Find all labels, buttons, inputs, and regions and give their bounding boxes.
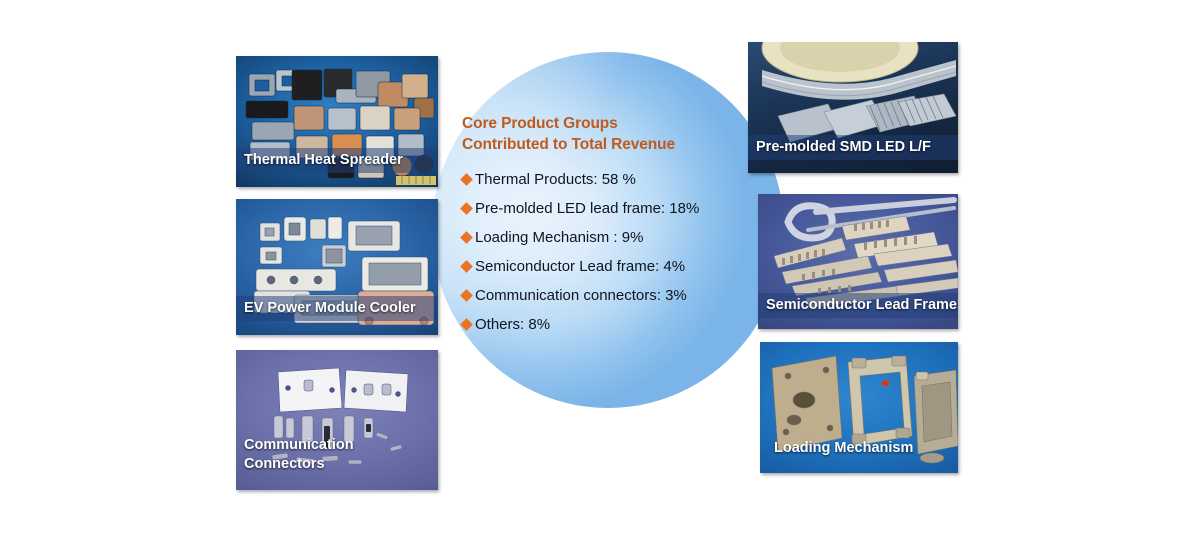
photo-semiconductor-lead-frames[interactable]: Semiconductor Lead Frames	[758, 194, 958, 329]
photo-thermal-heat-spreader[interactable]: Thermal Heat Spreader	[236, 56, 438, 187]
list-item: Loading Mechanism : 9%	[462, 223, 762, 252]
photo-caption: EV Power Module Cooler	[236, 296, 438, 321]
list-item: Others: 8%	[462, 310, 762, 339]
bullet-label: Pre-molded LED lead frame: 18%	[475, 194, 699, 223]
bullet-label: Loading Mechanism : 9%	[475, 223, 643, 252]
photo-ev-power-module-cooler[interactable]: EV Power Module Cooler	[236, 199, 438, 335]
photo-caption: Pre-molded SMD LED L/F	[748, 135, 958, 160]
photo-caption: Loading Mechanism	[766, 436, 958, 461]
photo-caption: Communication Connectors	[236, 433, 438, 478]
list-item: Semiconductor Lead frame: 4%	[462, 252, 762, 281]
diamond-bullet-icon	[460, 231, 473, 244]
bullet-label: Thermal Products: 58 %	[475, 165, 636, 194]
bullet-label: Others: 8%	[475, 310, 550, 339]
photo-caption-line1: Communication	[244, 436, 438, 455]
photo-caption: Semiconductor Lead Frames	[758, 293, 958, 318]
photo-premolded-smd-led-lf[interactable]: Pre-molded SMD LED L/F	[748, 42, 958, 173]
core-product-title-line1: Core Product Groups	[462, 113, 762, 134]
diamond-bullet-icon	[460, 260, 473, 273]
photo-loading-mechanism[interactable]: Loading Mechanism	[760, 342, 958, 473]
list-item: Pre-molded LED lead frame: 18%	[462, 194, 762, 223]
photo-communication-connectors[interactable]: Communication Connectors	[236, 350, 438, 490]
core-product-title-line2: Contributed to Total Revenue	[462, 134, 762, 155]
list-item: Thermal Products: 58 %	[462, 165, 762, 194]
bullet-label: Semiconductor Lead frame: 4%	[475, 252, 685, 281]
list-item: Communication connectors: 3%	[462, 281, 762, 310]
slide-canvas: Core Product Groups Contributed to Total…	[0, 0, 1198, 538]
core-product-text-block: Core Product Groups Contributed to Total…	[462, 113, 762, 339]
photo-caption-line2: Connectors	[244, 455, 438, 474]
diamond-bullet-icon	[460, 173, 473, 186]
diamond-bullet-icon	[460, 289, 473, 302]
diamond-bullet-icon	[460, 318, 473, 331]
photo-caption: Thermal Heat Spreader	[236, 148, 438, 173]
revenue-bullet-list: Thermal Products: 58 % Pre-molded LED le…	[462, 165, 762, 339]
bullet-label: Communication connectors: 3%	[475, 281, 687, 310]
diamond-bullet-icon	[460, 202, 473, 215]
